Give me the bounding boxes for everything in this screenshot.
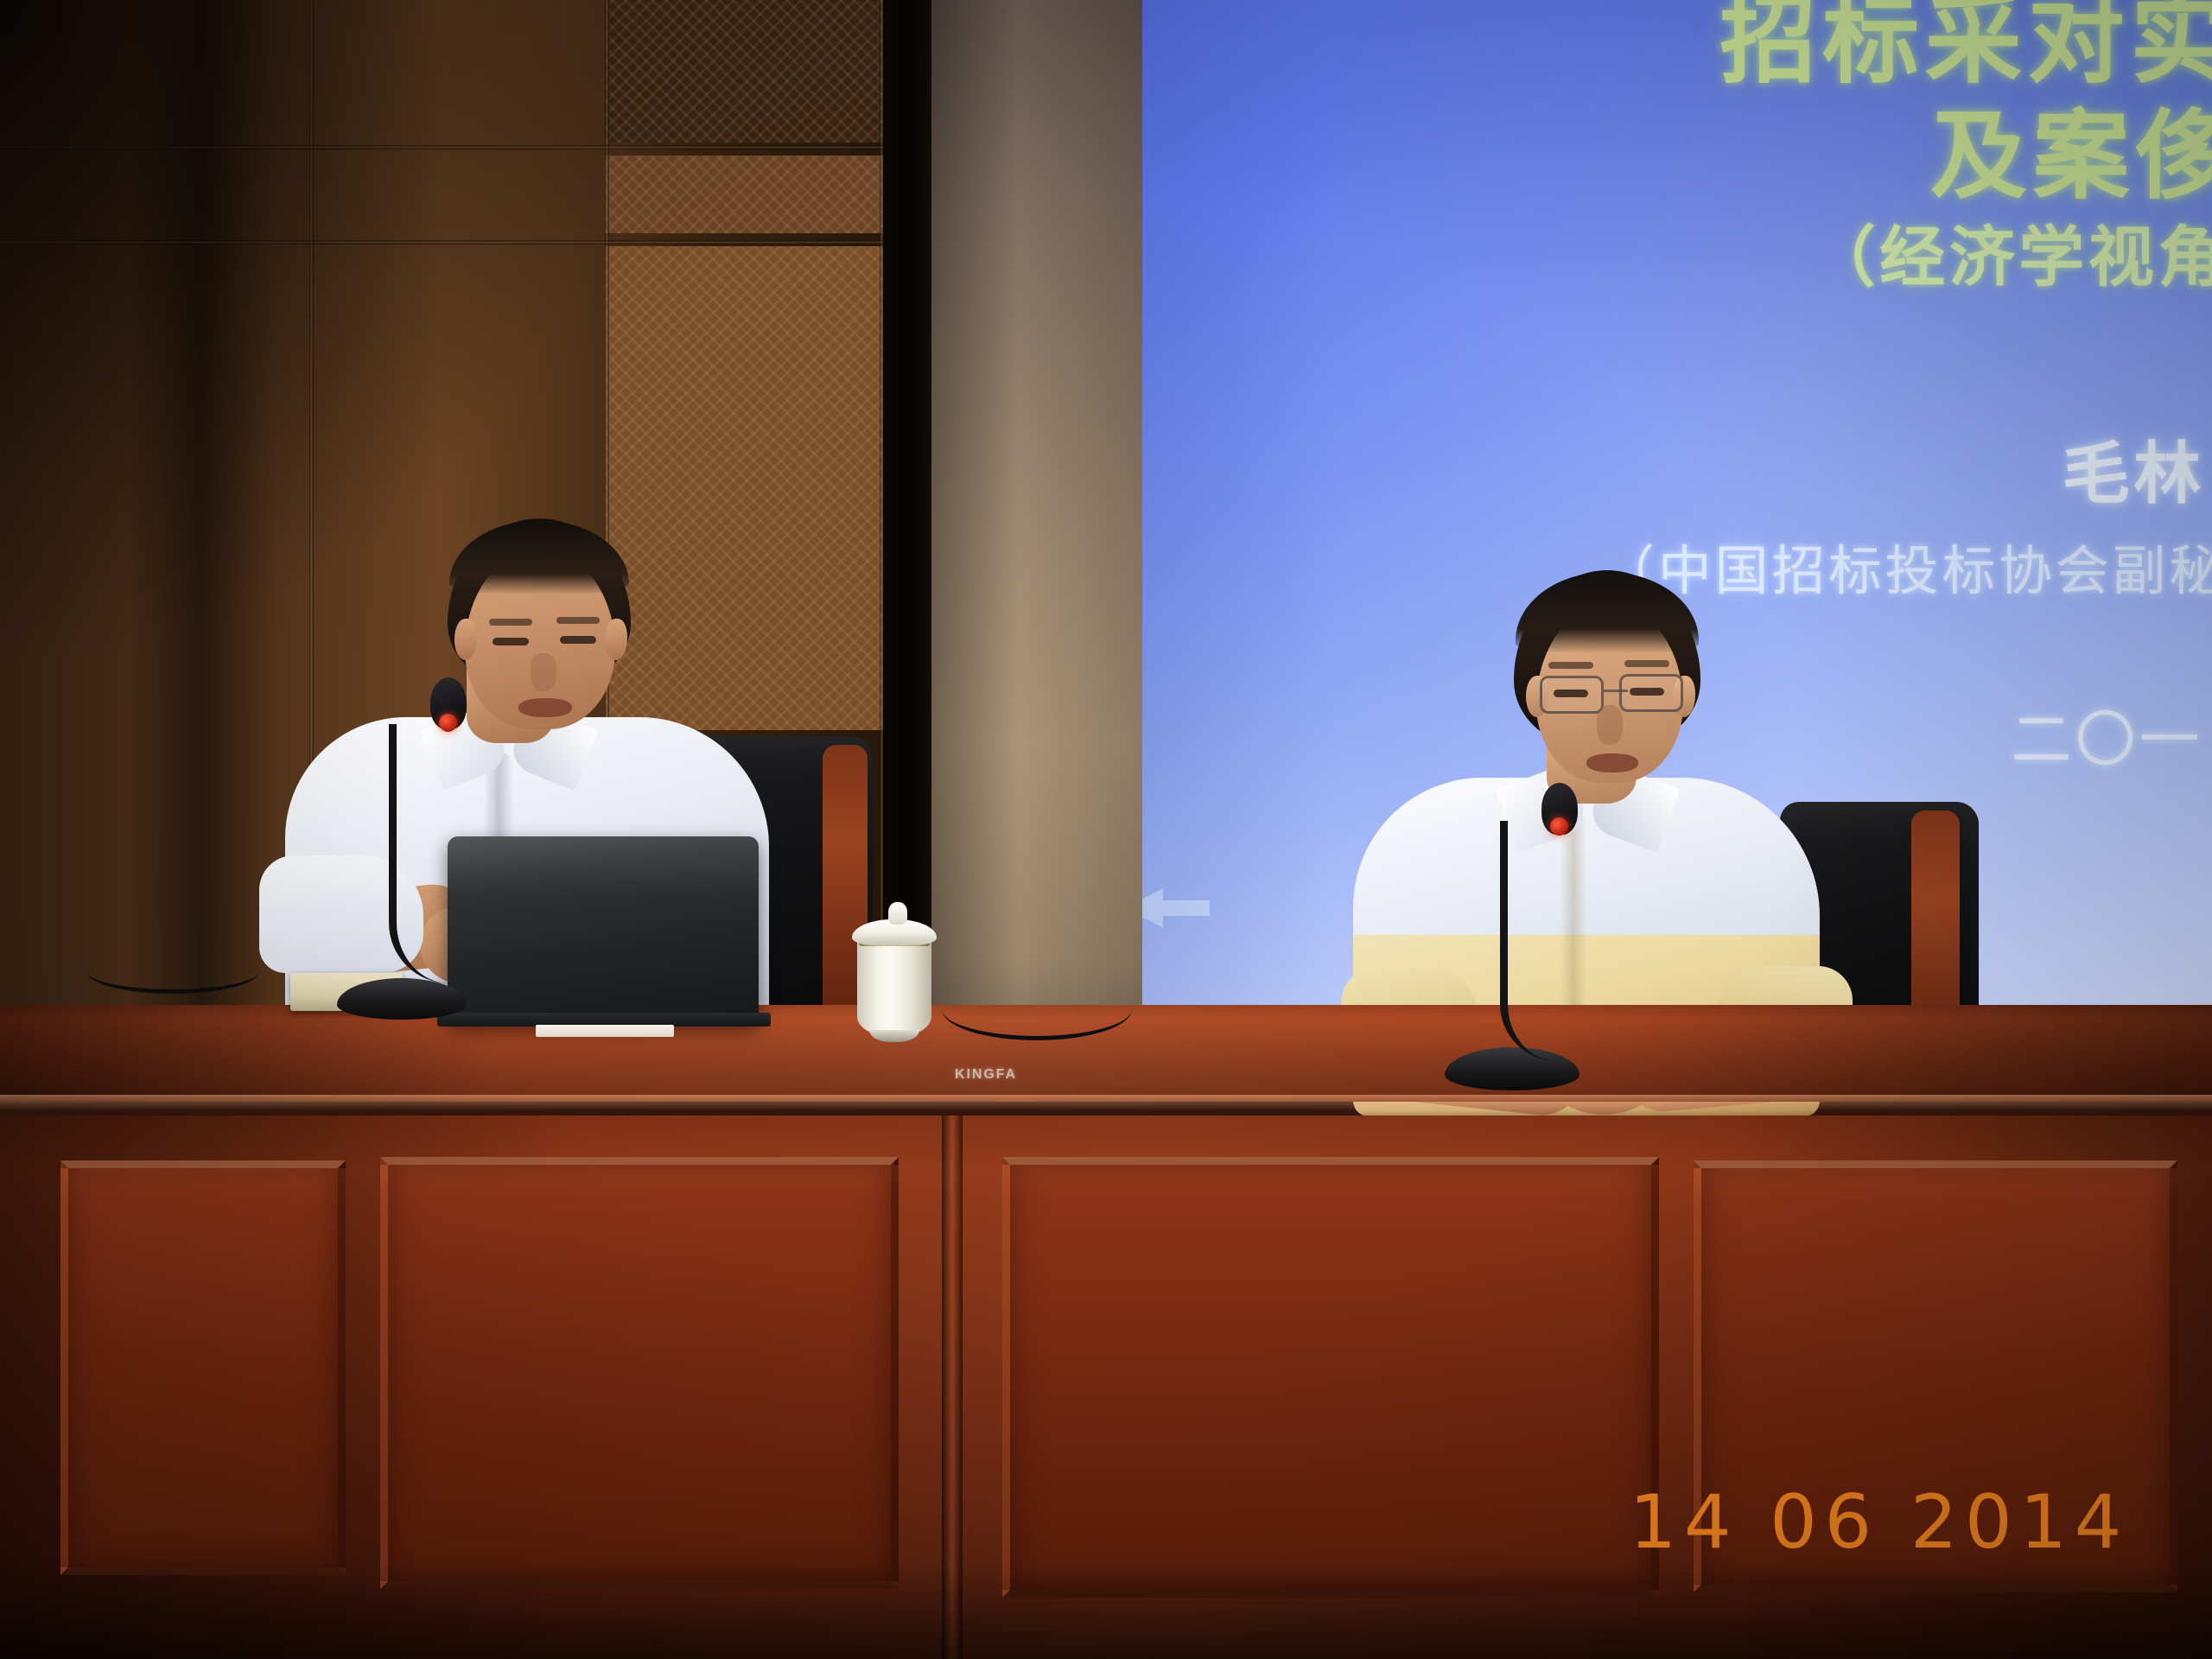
teacup-knob (888, 902, 907, 925)
teacup-foot (869, 1030, 919, 1042)
speaker-left-eye (560, 636, 596, 644)
speaker-right-nose (1597, 705, 1623, 745)
speaker-left-nose (531, 653, 556, 691)
mic-left-stem (389, 724, 449, 983)
table-panel (380, 1157, 899, 1589)
speaker-right-mouth (1586, 753, 1638, 772)
table-panel (1002, 1157, 1659, 1598)
mic-right-stem (1500, 821, 1557, 1061)
eyeglass-bridge (1604, 690, 1628, 692)
laptop (448, 836, 759, 1023)
speaker-right-eye (1630, 688, 1664, 696)
speaker-left-eye (493, 638, 529, 645)
slide-speaker-organization: （中国招标投标协会副秘 (1601, 527, 2212, 605)
speaker-right-brow (1548, 662, 1593, 669)
speaker-left-mouth (518, 698, 572, 717)
table-brand-badge: KINGFA (955, 1067, 1017, 1083)
slide-speaker-name: 毛林 (2063, 420, 2205, 517)
wall-fabric-panel-main (605, 246, 916, 730)
wall-dark-jamb (883, 0, 933, 1054)
paper-sheet (536, 1025, 674, 1037)
mic-left-indicator (439, 714, 457, 732)
wall-fabric-panel-upper (605, 156, 916, 233)
teacup (857, 900, 942, 1047)
light-wall-section (931, 0, 1147, 1063)
slide-date-line: 二〇一 (2011, 691, 2203, 779)
speaker-left-brow (489, 619, 532, 626)
mic-right-indicator (1550, 817, 1568, 836)
conference-photo: 招标采对实 及案侈 （经济学视角 毛林 （中国招标投标协会副秘 二〇一 (0, 0, 2212, 1659)
teacup-body (857, 935, 931, 1035)
table-panel (60, 1160, 346, 1575)
wall-fabric-panel-top (605, 0, 916, 143)
speaker-left-brow (556, 617, 600, 624)
left-arrow-icon (1142, 880, 1217, 935)
slide-subtitle: （经济学视角 (1810, 204, 2212, 299)
table-bottom-shadow (0, 1564, 2212, 1659)
slide-title-line-1: 招标采对实 (1719, 0, 2212, 102)
speaker-right-eye (1554, 690, 1588, 697)
speaker-right-brow (1624, 660, 1669, 667)
slide-title-line-2: 及案侈 (1930, 78, 2212, 218)
camera-date-stamp: 14 06 2014 (1630, 1479, 2129, 1566)
